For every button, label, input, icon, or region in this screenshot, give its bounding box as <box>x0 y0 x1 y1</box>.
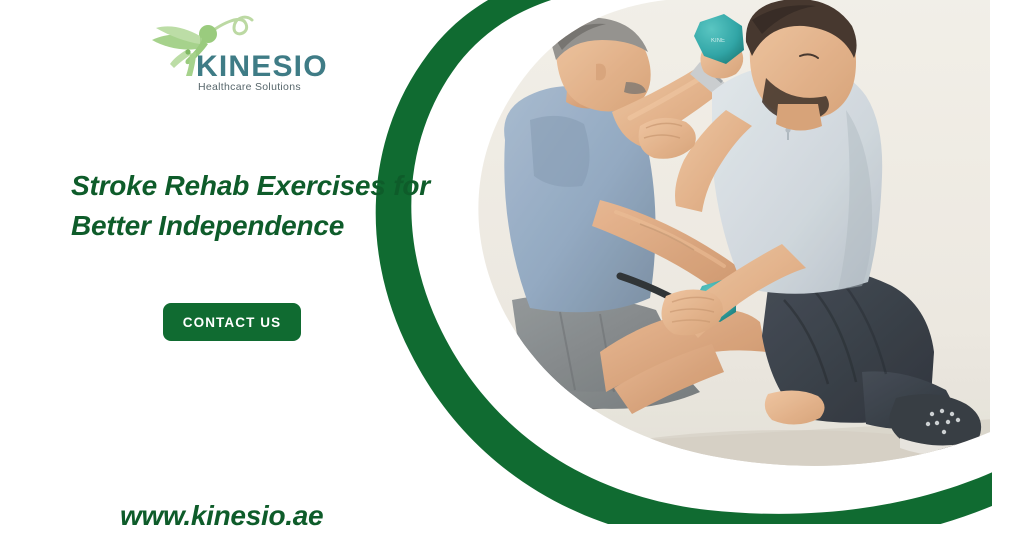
website-url[interactable]: www.kinesio.ae <box>120 500 323 532</box>
contact-us-button[interactable]: CONTACT US <box>163 303 301 341</box>
contact-us-label: CONTACT US <box>183 315 282 330</box>
hero-photo: KINE KINE <box>440 0 1020 536</box>
svg-text:KINE: KINE <box>711 298 724 304</box>
logo-wordmark: KINESIO <box>196 52 328 82</box>
logo-tagline: Healthcare Solutions <box>198 82 301 93</box>
page-title: Stroke Rehab Exercises for Better Indepe… <box>71 166 471 246</box>
svg-text:KINE: KINE <box>711 38 725 44</box>
swoosh-inner-gap <box>430 0 1000 501</box>
promo-banner: KINE KINE <box>0 0 1024 536</box>
brand-logo[interactable]: KINESIO Healthcare Solutions <box>146 4 306 102</box>
swoosh-band <box>376 0 1006 536</box>
right-margin <box>992 0 1024 536</box>
